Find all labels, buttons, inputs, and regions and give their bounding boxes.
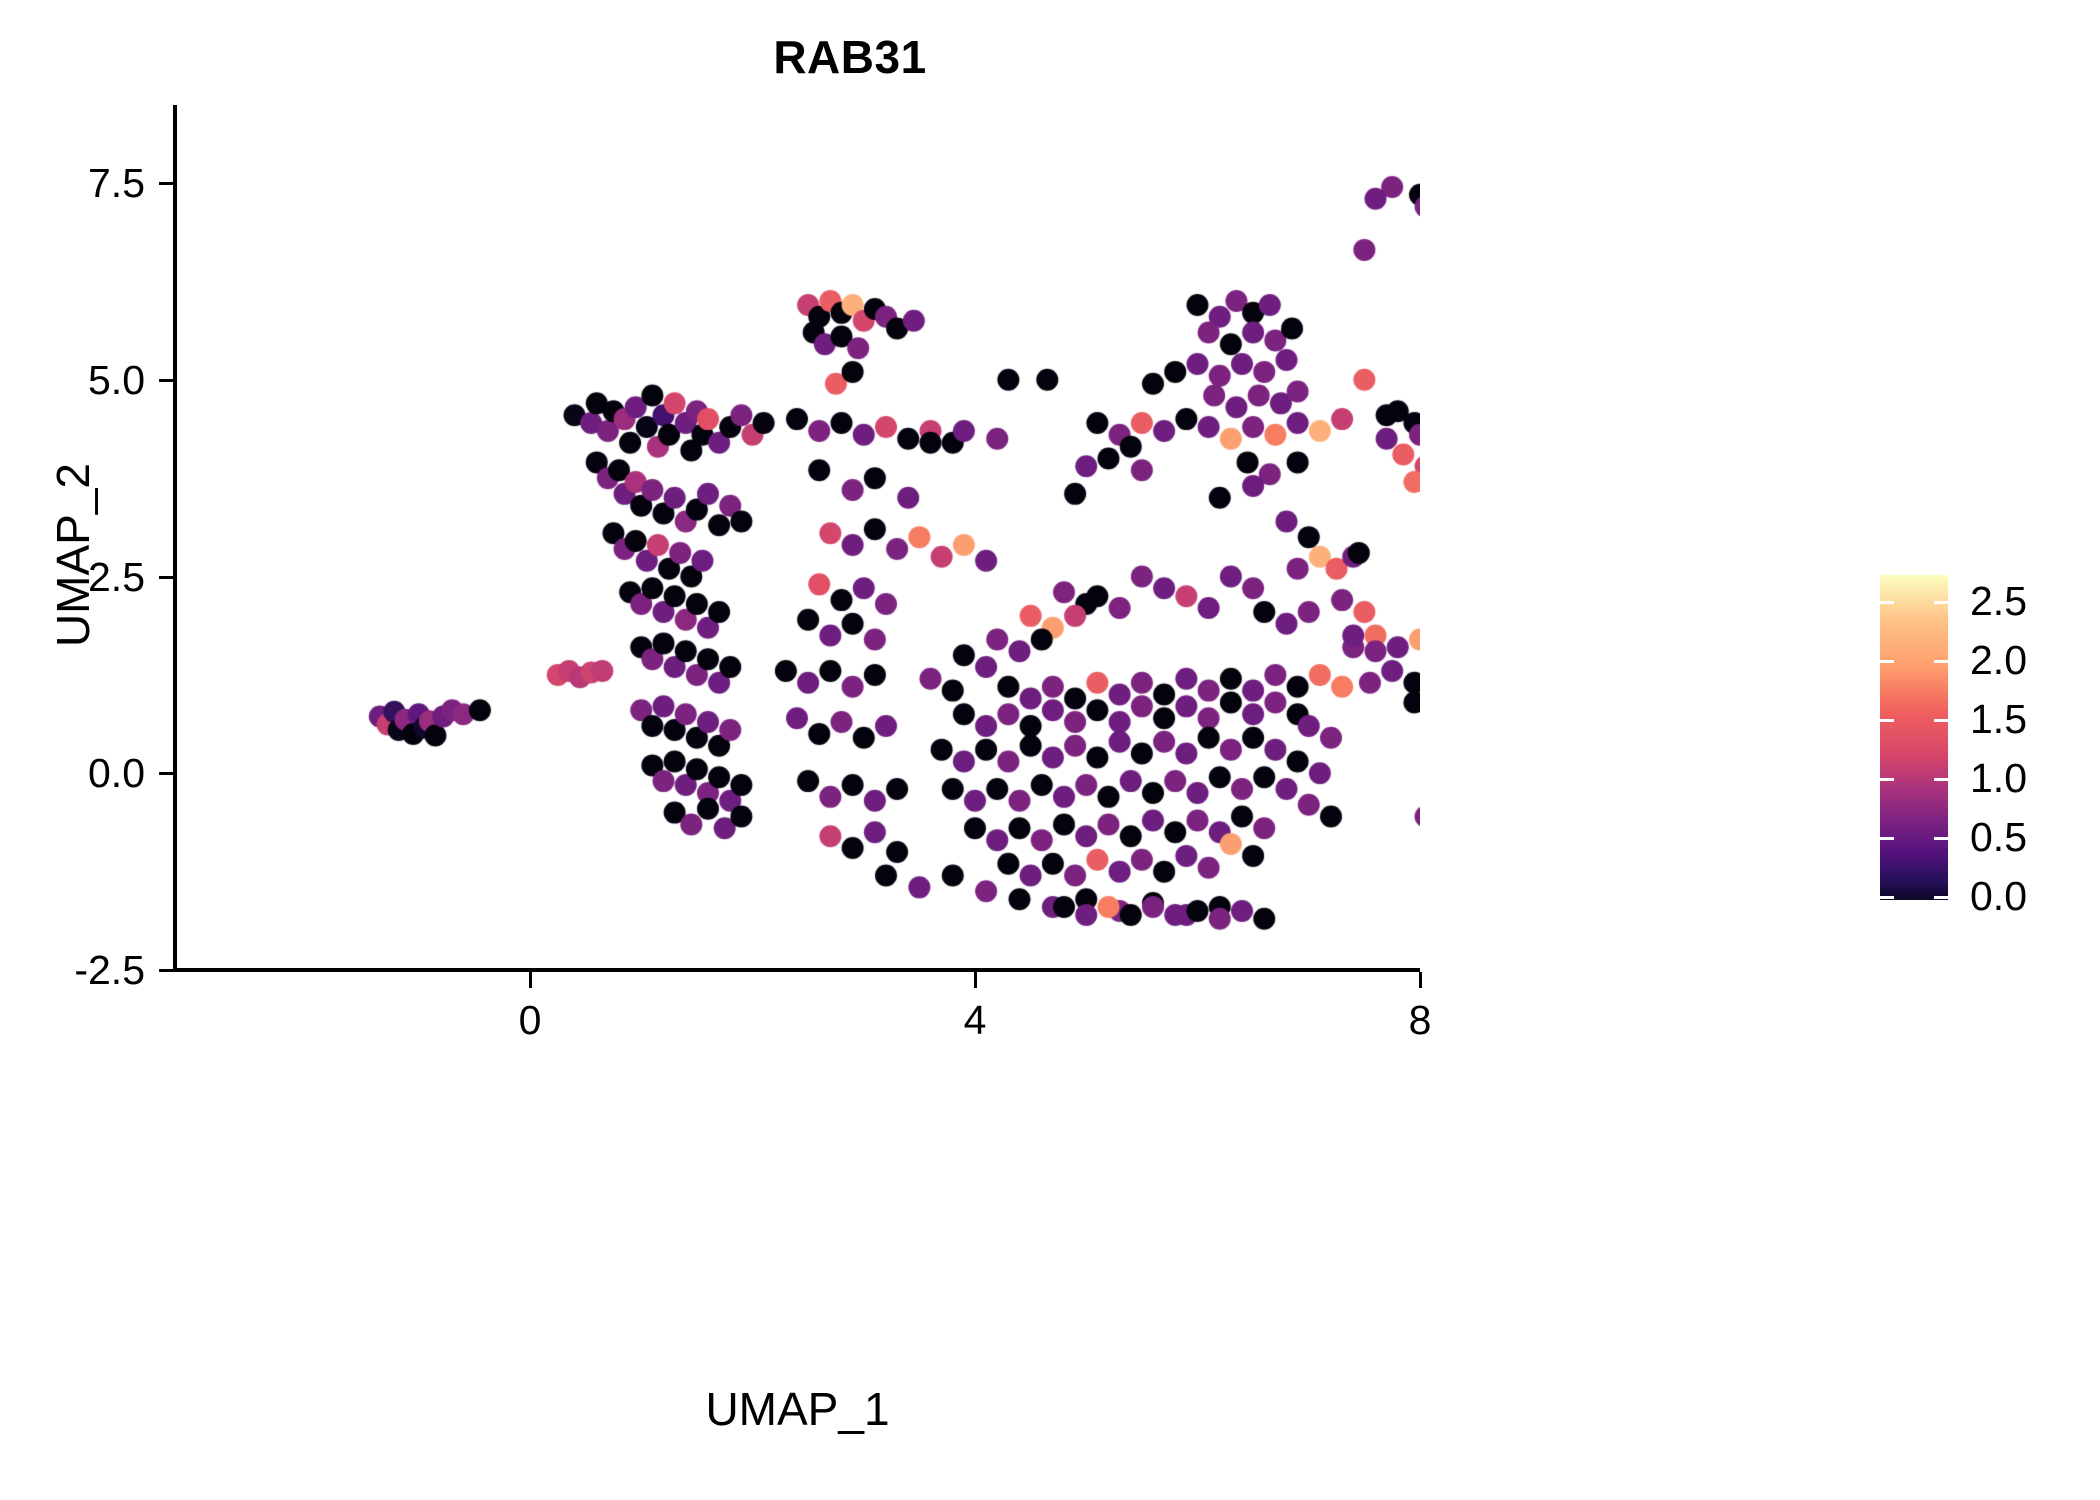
chart-root: RAB31 7.5 5.0 2.5 0.0 -2.5 0 4 8 UMAP_1 … xyxy=(0,0,2100,1500)
x-axis-line xyxy=(173,968,1420,972)
colorbar-tick-right-4 xyxy=(1934,837,1948,840)
y-tick-mark-4 xyxy=(159,969,173,972)
colorbar-tick-right-1 xyxy=(1934,660,1948,663)
x-tick-label-0: 0 xyxy=(450,1000,610,1041)
colorbar-tick-left-4 xyxy=(1880,837,1894,840)
colorbar-tick-left-0 xyxy=(1880,601,1894,604)
colorbar-tick-right-3 xyxy=(1934,778,1948,781)
y-axis-line xyxy=(173,105,177,971)
color-legend: 2.5 2.0 1.5 1.0 0.5 0.0 xyxy=(1880,565,2080,915)
colorbar-tick-right-5 xyxy=(1934,896,1948,899)
colorbar-label-3: 1.0 xyxy=(1970,758,2027,799)
x-axis-title: UMAP_1 xyxy=(175,1382,1420,1436)
x-tick-mark-2 xyxy=(1419,972,1422,988)
colorbar-label-2: 1.5 xyxy=(1970,699,2027,740)
scatter-canvas xyxy=(175,105,1420,970)
colorbar-label-0: 2.5 xyxy=(1970,581,2027,622)
page-title: RAB31 xyxy=(0,30,1700,84)
plot-panel xyxy=(175,105,1420,970)
x-tick-label-2: 8 xyxy=(1340,1000,1500,1041)
colorbar-tick-left-3 xyxy=(1880,778,1894,781)
colorbar-label-1: 2.0 xyxy=(1970,640,2027,681)
y-tick-mark-2 xyxy=(159,576,173,579)
colorbar-tick-right-2 xyxy=(1934,719,1948,722)
colorbar-tick-left-2 xyxy=(1880,719,1894,722)
colorbar-gradient xyxy=(1880,575,1948,900)
y-tick-mark-1 xyxy=(159,379,173,382)
colorbar-label-5: 0.0 xyxy=(1970,876,2027,917)
y-axis-title: UMAP_2 xyxy=(46,122,100,988)
y-tick-mark-0 xyxy=(159,182,173,185)
colorbar-label-4: 0.5 xyxy=(1970,817,2027,858)
x-tick-label-1: 4 xyxy=(895,1000,1055,1041)
y-tick-mark-3 xyxy=(159,772,173,775)
x-tick-mark-1 xyxy=(974,972,977,988)
colorbar-tick-left-1 xyxy=(1880,660,1894,663)
colorbar-tick-left-5 xyxy=(1880,896,1894,899)
x-tick-mark-0 xyxy=(529,972,532,988)
colorbar-tick-right-0 xyxy=(1934,601,1948,604)
